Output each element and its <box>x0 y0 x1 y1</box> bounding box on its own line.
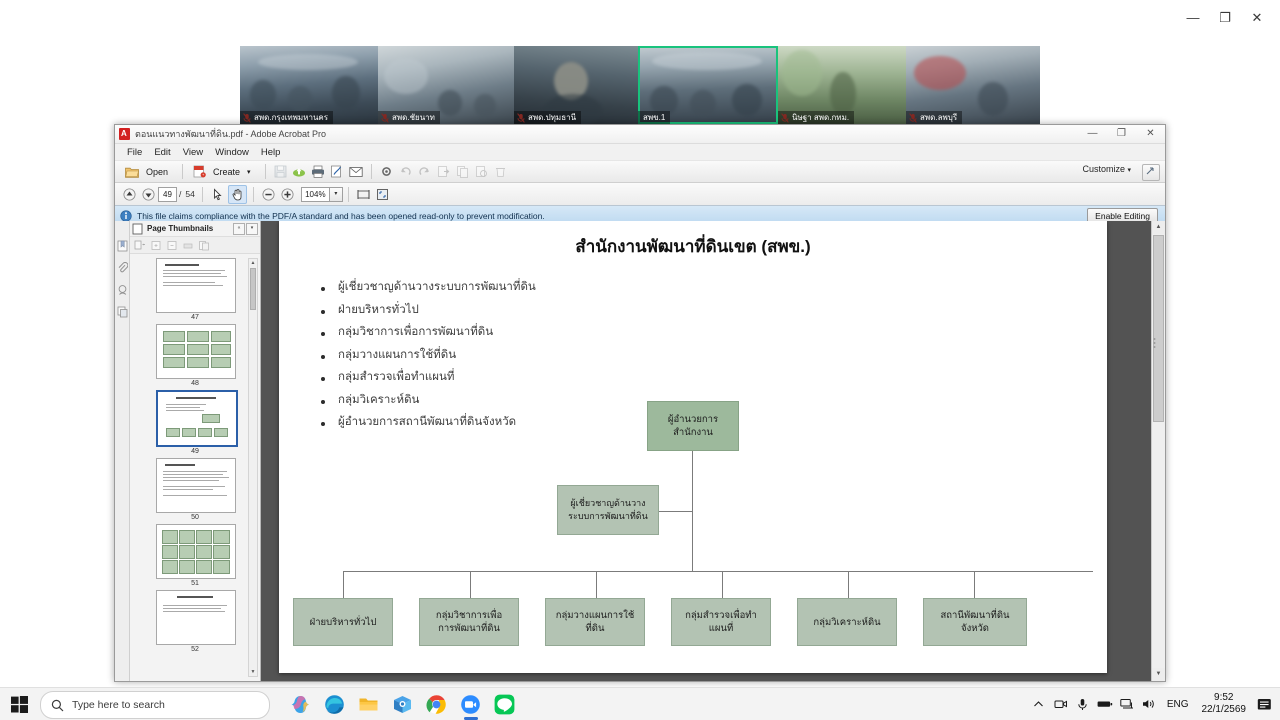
list-item: กลุ่มสำรวจเพื่อทำแผนที่ <box>321 371 751 384</box>
org-box-director: ผู้อำนวยการสำนักงาน <box>647 401 739 451</box>
participant-name: สพด.ชัยนาท <box>378 111 440 124</box>
bullet-icon <box>321 355 325 359</box>
settings-icon[interactable] <box>378 163 395 180</box>
thumbnails-scroll-thumb[interactable] <box>250 268 256 310</box>
attachment-icon[interactable] <box>115 257 129 279</box>
page-total: 54 <box>185 189 194 199</box>
org-box-unit: กลุ่มวิเคราะห์ดิน <box>797 598 897 646</box>
network-icon[interactable] <box>1116 688 1138 720</box>
system-tray: ENG 9:52 22/1/2569 <box>1028 688 1280 720</box>
clock-time: 9:52 <box>1202 692 1247 704</box>
extract-pages-icon[interactable] <box>197 239 211 252</box>
thumbnails-list[interactable]: 47 48 <box>130 254 260 681</box>
org-box-unit: ฝ่ายบริหารทั่วไป <box>293 598 393 646</box>
thumbnail-item[interactable]: 50 <box>156 458 234 521</box>
notification-center-icon[interactable] <box>1252 698 1276 711</box>
acrobat-restore-button[interactable]: ❐ <box>1107 125 1136 143</box>
edge-icon[interactable] <box>322 692 347 717</box>
reduce-thumbnails-icon[interactable] <box>165 239 179 252</box>
windows-taskbar: Type here to search ENG <box>0 687 1280 720</box>
page-separator: / <box>179 189 181 199</box>
undo-icon[interactable] <box>397 163 414 180</box>
thumbnail-page <box>156 324 236 379</box>
folder-icon <box>125 166 139 178</box>
windows-logo-icon <box>11 696 28 713</box>
print-icon[interactable] <box>310 163 327 180</box>
participant-name: สพด.กรุงเทพมหานคร <box>240 111 333 124</box>
expand-toolbar-button[interactable] <box>1142 164 1160 181</box>
enlarge-thumbnails-icon[interactable] <box>149 239 163 252</box>
create-pdf-icon: + <box>193 165 206 178</box>
copilot-icon[interactable] <box>288 692 313 717</box>
thumbnail-item[interactable]: 48 <box>156 324 234 387</box>
participant-tile-active-speaker[interactable]: สพข.1 <box>638 46 778 124</box>
signature-icon[interactable] <box>115 279 129 301</box>
thumbnails-header: Page Thumbnails « ▾ <box>130 221 260 237</box>
fit-width-icon[interactable] <box>355 186 372 203</box>
participant-tile[interactable]: สพด.กรุงเทพมหานคร <box>240 46 378 124</box>
hand-tool-icon[interactable] <box>228 185 247 204</box>
participant-name: สพข.1 <box>638 111 670 124</box>
thumbnail-page <box>156 390 238 447</box>
thumbnail-item[interactable]: 47 <box>156 258 234 321</box>
page-thumbnails-icon <box>132 223 143 235</box>
zoom-close-button[interactable]: ✕ <box>1246 8 1268 28</box>
org-box-unit: กลุ่มสำรวจเพื่อทำแผนที่ <box>671 598 771 646</box>
collapse-panel-button[interactable]: « <box>233 223 245 235</box>
acrobat-window: ตอนแนวทางพัฒนาที่ดิน.pdf - Adobe Acrobat… <box>114 124 1166 682</box>
connector-unit-5 <box>848 571 849 598</box>
chevron-up-icon[interactable] <box>1028 688 1050 720</box>
connector-unit-6 <box>974 571 975 598</box>
page-scroll-up-icon[interactable]: ▲ <box>1152 221 1165 234</box>
thumbnail-page-number: 51 <box>156 580 234 587</box>
bullet-icon <box>321 422 325 426</box>
bullet-text: ผู้อำนวยการสถานีพัฒนาที่ดินจังหวัด <box>338 416 516 429</box>
bookmark-icon[interactable] <box>115 235 129 257</box>
acrobat-document-icon <box>119 128 130 140</box>
thumbnails-toolbar <box>130 237 260 254</box>
participant-tile[interactable]: สพด.ชัยนาท <box>378 46 514 124</box>
participant-name: นิษฐา สพด.กทม. <box>778 111 854 124</box>
camera-icon[interactable] <box>1050 688 1072 720</box>
thumbnail-page <box>156 524 236 579</box>
zoom-maximize-button[interactable]: ❐ <box>1214 8 1236 28</box>
org-box-unit: สถานีพัฒนาที่ดินจังหวัด <box>923 598 1027 646</box>
export-icon[interactable] <box>435 163 452 180</box>
line-icon[interactable] <box>492 692 517 717</box>
connector-unit-2 <box>470 571 471 598</box>
page-number-input[interactable]: 49 <box>158 187 177 202</box>
page-scrollbar[interactable]: ▲ ▼ <box>1151 221 1165 681</box>
participant-tile[interactable]: นิษฐา สพด.กทม. <box>778 46 906 124</box>
bullet-icon <box>321 400 325 404</box>
customize-label: Customize <box>1082 164 1125 174</box>
participant-video-strip: สพด.กรุงเทพมหานคร สพด.ชัยนาท สพด.ปทุมธาน… <box>240 46 1040 124</box>
thumbnail-item-selected[interactable]: 49 <box>156 390 234 455</box>
trash-icon[interactable] <box>492 163 509 180</box>
copy-icon[interactable] <box>454 163 471 180</box>
participant-name: สพด.ลพบุรี <box>906 111 962 124</box>
acrobat-menu-bar: File Edit View Window Help <box>115 144 1165 161</box>
zoom-out-icon[interactable] <box>260 186 277 203</box>
acrobat-page-toolbar: 49 / 54 104% ▾ <box>115 183 1165 206</box>
zoom-title-bar: — ❐ ✕ <box>0 0 1280 36</box>
save-icon[interactable] <box>272 163 289 180</box>
list-item: ฝ่ายบริหารทั่วไป <box>321 304 751 317</box>
slide-title: สำนักงานพัฒนาที่ดินเขต (สพข.) <box>279 233 1107 260</box>
microphone-icon[interactable] <box>1072 688 1094 720</box>
clock[interactable]: 9:52 22/1/2569 <box>1196 692 1253 716</box>
menu-view[interactable]: View <box>177 146 209 159</box>
customize-toolbar-button[interactable]: Customize ▾ <box>1082 164 1131 174</box>
taskbar-app-icons <box>288 688 517 720</box>
zoom-level-input[interactable]: 104% <box>301 187 330 202</box>
list-item: ผู้เชี่ยวชาญด้านวางระบบการพัฒนาที่ดิน <box>321 281 751 294</box>
bullet-icon <box>321 310 325 314</box>
org-box-specialist: ผู้เชี่ยวชาญด้านวางระบบการพัฒนาที่ดิน <box>557 485 659 535</box>
redo-icon[interactable] <box>416 163 433 180</box>
thumbnails-scroll-down-icon[interactable]: ▼ <box>249 668 257 676</box>
thumbnail-page-number: 50 <box>156 514 234 521</box>
thumbnail-page-number: 52 <box>156 646 234 653</box>
clock-date: 22/1/2569 <box>1202 704 1247 716</box>
thumbnails-scrollbar[interactable]: ▲ ▼ <box>248 258 258 677</box>
connector-unit-1 <box>343 571 344 598</box>
menu-help[interactable]: Help <box>255 146 287 159</box>
stamp-icon[interactable] <box>473 163 490 180</box>
bullet-icon <box>321 287 325 291</box>
create-button[interactable]: + Create ▾ <box>188 164 260 179</box>
open-label: Open <box>142 167 172 177</box>
page-thumbnails-panel: Page Thumbnails « ▾ <box>130 221 261 681</box>
connector-horizontal-units <box>343 571 1093 572</box>
pdf-page: สำนักงานพัฒนาที่ดินเขต (สพข.) ผู้เชี่ยวช… <box>279 221 1107 673</box>
bullet-text: กลุ่มวิชาการเพื่อการพัฒนาที่ดิน <box>338 326 493 339</box>
connector-unit-3 <box>596 571 597 598</box>
cloud-upload-icon[interactable] <box>291 163 308 180</box>
acrobat-body: Page Thumbnails « ▾ <box>115 221 1165 681</box>
language-indicator[interactable]: ENG <box>1160 699 1196 710</box>
thumbnail-page <box>156 590 236 645</box>
thumbnail-page-number: 49 <box>156 448 234 455</box>
bullet-icon <box>321 377 325 381</box>
org-box-unit: กลุ่มวางแผนการใช้ที่ดิน <box>545 598 645 646</box>
bullet-text: ฝ่ายบริหารทั่วไป <box>338 304 419 317</box>
menu-window[interactable]: Window <box>209 146 255 159</box>
thumbnail-item[interactable]: 52 <box>156 590 234 653</box>
layers-icon[interactable] <box>115 301 129 323</box>
thumbnails-scroll-up-icon[interactable]: ▲ <box>249 259 257 267</box>
sign-icon[interactable] <box>329 163 346 180</box>
open-button[interactable]: Open <box>120 165 177 179</box>
splitter-icon <box>1152 335 1157 351</box>
navigation-rail <box>115 221 130 681</box>
zoom-minimize-button[interactable]: — <box>1182 8 1204 28</box>
panel-options-button[interactable]: ▾ <box>246 223 258 235</box>
create-label: Create <box>209 167 244 177</box>
volume-icon[interactable] <box>1138 688 1160 720</box>
list-item: กลุ่มวางแผนการใช้ที่ดิน <box>321 349 751 362</box>
menu-edit[interactable]: Edit <box>148 146 176 159</box>
menu-file[interactable]: File <box>121 146 148 159</box>
page-scroll-down-icon[interactable]: ▼ <box>1152 668 1165 681</box>
bullet-icon <box>321 332 325 336</box>
search-placeholder: Type here to search <box>72 699 165 711</box>
org-box-unit: กลุ่มวิชาการเพื่อการพัฒนาที่ดิน <box>419 598 519 646</box>
next-page-icon[interactable] <box>140 186 157 203</box>
print-pages-icon[interactable] <box>181 239 195 252</box>
store-icon[interactable] <box>390 692 415 717</box>
page-scroll-thumb[interactable] <box>1153 235 1164 422</box>
list-item: กลุ่มวิชาการเพื่อการพัฒนาที่ดิน <box>321 326 751 339</box>
pdf-page-view[interactable]: สำนักงานพัฒนาที่ดินเขต (สพข.) ผู้เชี่ยวช… <box>261 221 1165 681</box>
bullet-text: กลุ่มสำรวจเพื่อทำแผนที่ <box>338 371 455 384</box>
previous-page-icon[interactable] <box>121 186 138 203</box>
notification-message: This file claims compliance with the PDF… <box>137 211 545 221</box>
bullet-text: กลุ่มวางแผนการใช้ที่ดิน <box>338 349 456 362</box>
participant-tile[interactable]: สพด.ลพบุรี <box>906 46 1040 124</box>
thumbnail-page <box>156 258 236 313</box>
zoom-icon[interactable] <box>458 692 483 717</box>
search-input[interactable]: Type here to search <box>40 691 270 719</box>
bullet-text: กลุ่มวิเคราะห์ดิน <box>338 394 419 407</box>
acrobat-title-bar: ตอนแนวทางพัฒนาที่ดิน.pdf - Adobe Acrobat… <box>115 125 1165 144</box>
connector-unit-4 <box>722 571 723 598</box>
thumbnail-options-icon[interactable] <box>133 239 147 252</box>
search-icon <box>51 699 64 712</box>
acrobat-main-toolbar: Open + Create ▾ Customize ▾ <box>115 161 1165 183</box>
bullet-text: ผู้เชี่ยวชาญด้านวางระบบการพัฒนาที่ดิน <box>338 281 536 294</box>
participant-tile[interactable]: สพด.ปทุมธานี <box>514 46 638 124</box>
select-tool-icon[interactable] <box>209 186 226 203</box>
thumbnail-page-number: 48 <box>156 380 234 387</box>
acrobat-minimize-button[interactable]: — <box>1078 125 1107 143</box>
zoom-dropdown-icon[interactable]: ▾ <box>330 187 343 202</box>
info-icon <box>120 210 132 222</box>
create-caret-icon: ▾ <box>247 168 255 176</box>
file-explorer-icon[interactable] <box>356 692 381 717</box>
acrobat-close-button[interactable]: ✕ <box>1136 125 1165 143</box>
email-icon[interactable] <box>348 163 365 180</box>
thumbnail-page-number: 47 <box>156 314 234 321</box>
customize-caret-icon: ▾ <box>1127 167 1131 174</box>
panel-splitter-handle[interactable] <box>1152 335 1157 351</box>
thumbnails-title: Page Thumbnails <box>147 224 232 233</box>
thumbnail-page <box>156 458 236 513</box>
battery-icon[interactable] <box>1094 688 1116 720</box>
acrobat-window-title: ตอนแนวทางพัฒนาที่ดิน.pdf - Adobe Acrobat… <box>135 127 326 141</box>
fit-page-icon[interactable] <box>374 186 391 203</box>
expand-icon <box>1143 165 1157 178</box>
start-button[interactable] <box>6 692 32 716</box>
thumbnail-item[interactable]: 51 <box>156 524 234 587</box>
participant-name: สพด.ปทุมธานี <box>514 111 581 124</box>
chrome-icon[interactable] <box>424 692 449 717</box>
zoom-in-icon[interactable] <box>279 186 296 203</box>
